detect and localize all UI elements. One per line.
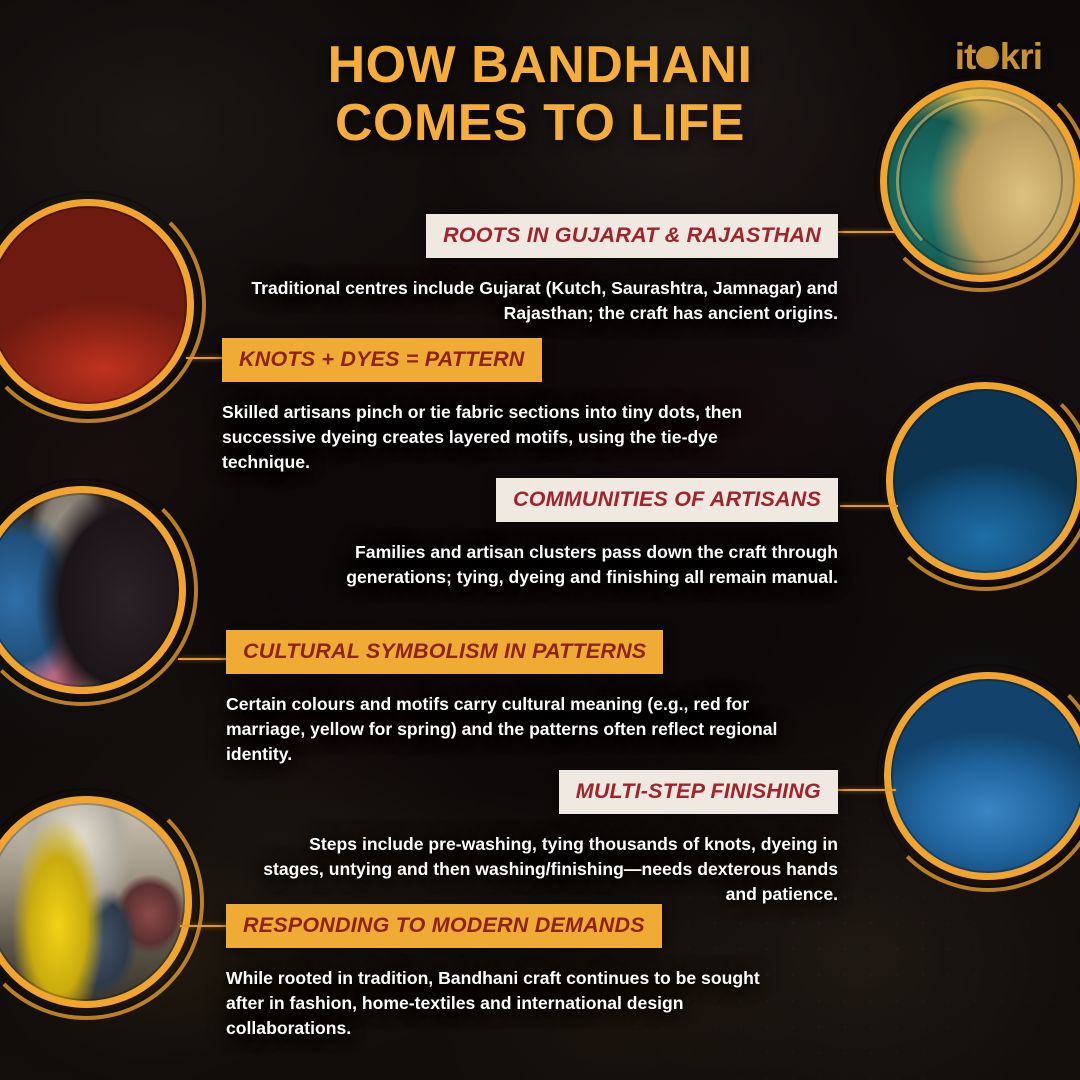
step-communities-of-artisans: COMMUNITIES OF ARTISANS Families and art…	[250, 478, 838, 590]
step-label[interactable]: MULTI-STEP FINISHING	[559, 770, 838, 814]
step-body: Certain colours and motifs carry cultura…	[226, 692, 792, 767]
step-cultural-symbolism-in-patterns: CULTURAL SYMBOLISM IN PATTERNS Certain c…	[226, 630, 792, 767]
connector-line-1	[838, 231, 896, 233]
logo-circle-o-icon	[976, 46, 999, 69]
photo-image	[890, 678, 1080, 874]
connector-line-3	[840, 505, 898, 507]
step-label[interactable]: RESPONDING TO MODERN DEMANDS	[226, 904, 662, 948]
page-title-line-1: HOW BANDHANI	[0, 36, 1080, 94]
step-body: Families and artisan clusters pass down …	[250, 540, 838, 590]
logo-text-before: it	[955, 36, 976, 77]
logo-text-after: kri	[1000, 36, 1042, 77]
step-multi-step-finishing: MULTI-STEP FINISHING Steps include pre-w…	[250, 770, 838, 907]
connector-line-5	[838, 789, 896, 791]
page-title-line-2: COMES TO LIFE	[0, 94, 1080, 152]
step-label[interactable]: CULTURAL SYMBOLISM IN PATTERNS	[226, 630, 663, 674]
page-title: HOW BANDHANI COMES TO LIFE	[0, 36, 1080, 152]
photo-image	[892, 388, 1078, 574]
step-responding-to-modern-demands: RESPONDING TO MODERN DEMANDS While roote…	[226, 904, 792, 1041]
step-body: Skilled artisans pinch or tie fabric sec…	[222, 400, 782, 475]
step-body: Traditional centres include Gujarat (Kut…	[250, 276, 838, 326]
connector-line-4	[178, 658, 232, 660]
step-label[interactable]: ROOTS IN GUJARAT & RAJASTHAN	[426, 214, 838, 258]
step-label[interactable]: COMMUNITIES OF ARTISANS	[496, 478, 838, 522]
step-body: While rooted in tradition, Bandhani craf…	[226, 966, 792, 1041]
step-knots-plus-dyes-equals-pattern: KNOTS + DYES = PATTERN Skilled artisans …	[222, 338, 782, 475]
photo-indigo-dye-vat	[890, 678, 1080, 874]
connector-line-6	[180, 925, 232, 927]
itokri-logo[interactable]: itkri	[955, 38, 1042, 75]
photo-dyer-in-blue-vat	[892, 388, 1078, 574]
step-roots-in-gujarat-and-rajasthan: ROOTS IN GUJARAT & RAJASTHAN Traditional…	[250, 214, 838, 326]
step-body: Steps include pre-washing, tying thousan…	[250, 832, 838, 907]
step-label[interactable]: KNOTS + DYES = PATTERN	[222, 338, 542, 382]
